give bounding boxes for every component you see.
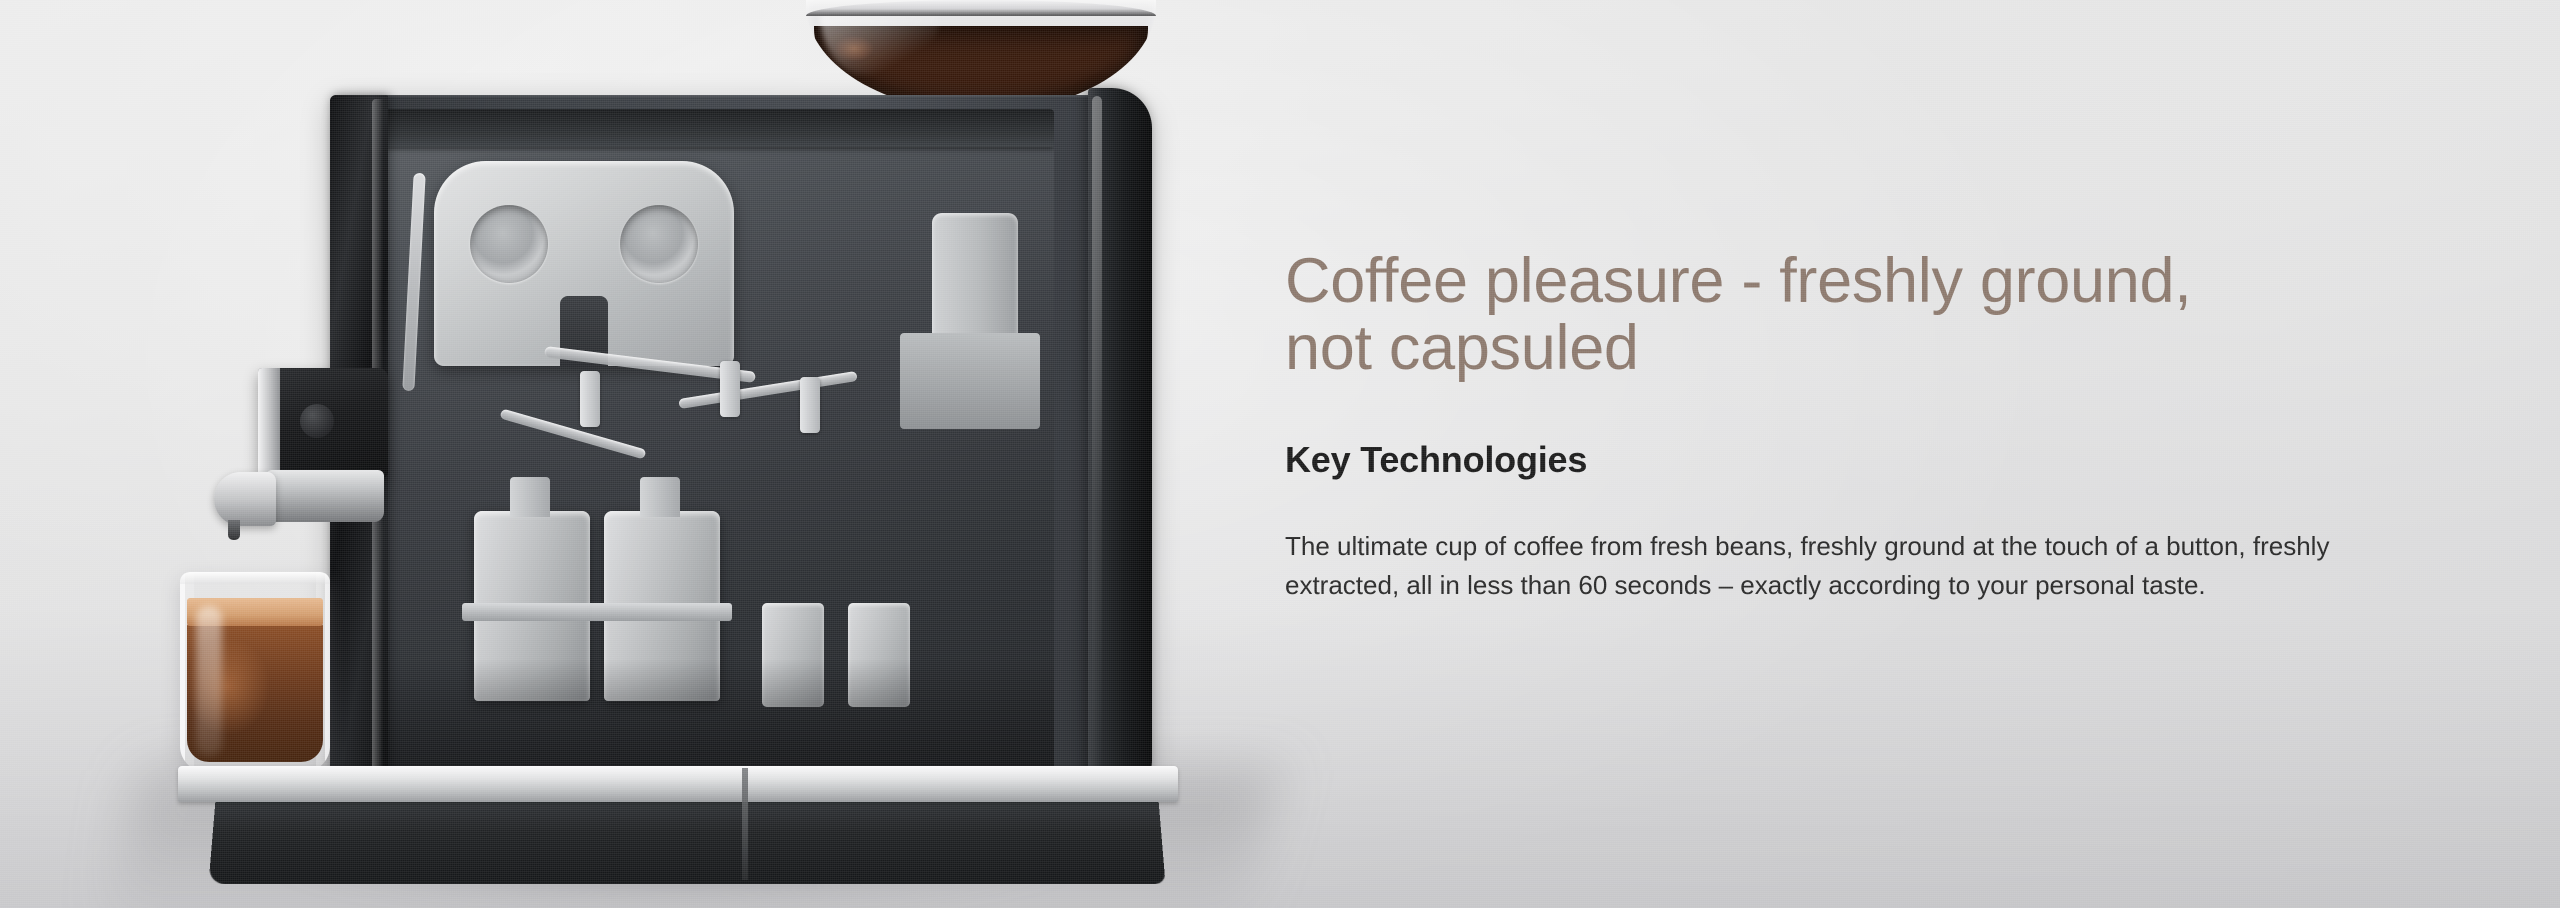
valve-2 [720, 361, 740, 417]
drip-tray-grate [178, 766, 1178, 802]
interior-top-rail [348, 109, 1054, 147]
espresso-glass [180, 572, 330, 772]
machine-interior-cutaway [348, 109, 1054, 779]
drip-tray-seam [742, 768, 748, 880]
thermoblock-boiler [434, 161, 734, 366]
valve-1 [580, 371, 600, 427]
right-side-panel-highlight [1092, 96, 1102, 792]
page-title: Coffee pleasure - freshly ground, not ca… [1285, 248, 2410, 383]
milk-frother [214, 472, 276, 526]
water-tank-base [900, 333, 1040, 429]
coffee-spout-adjuster-knob [300, 404, 334, 438]
coffee-spout-chrome-trim [258, 368, 280, 480]
drip-tray-body [208, 801, 1165, 885]
hose-4 [500, 409, 647, 460]
machine-body [330, 95, 1150, 795]
brewing-unit-right-collar [592, 603, 732, 621]
coffee-spout-head [266, 470, 384, 522]
product-image-coffee-machine [0, 0, 1250, 908]
brewing-unit-right-stem [640, 477, 680, 517]
glass-rim [180, 572, 330, 584]
brewing-unit-left-stem [510, 477, 550, 517]
body-paragraph: The ultimate cup of coffee from fresh be… [1285, 527, 2395, 606]
glass-highlight [196, 606, 222, 756]
water-tank [932, 213, 1018, 351]
interior-bottom-shadow [348, 659, 1054, 779]
valve-3 [800, 377, 820, 433]
hose-1 [402, 173, 425, 391]
section-subheading: Key Technologies [1285, 439, 2410, 481]
brewing-unit-left-collar [462, 603, 602, 621]
milk-frother-tip [228, 520, 240, 540]
hero-banner: Coffee pleasure - freshly ground, not ca… [0, 0, 2560, 908]
hero-copy-block: Coffee pleasure - freshly ground, not ca… [1285, 248, 2410, 606]
